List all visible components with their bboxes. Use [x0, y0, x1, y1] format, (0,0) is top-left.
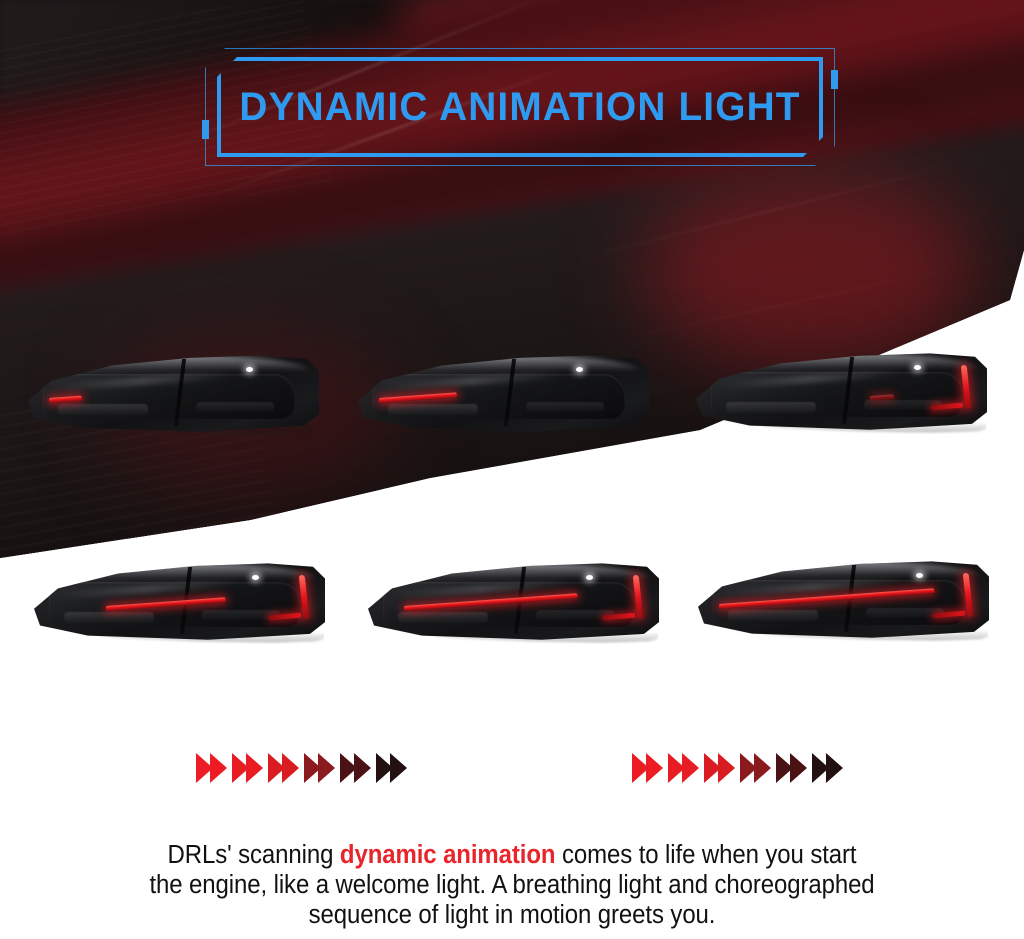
chevron-group-right	[632, 753, 845, 783]
chevron-icon	[196, 753, 229, 783]
title-banner: DYNAMIC ANIMATION LIGHT	[205, 48, 835, 166]
backdrop-red-glow	[640, 170, 980, 370]
drl-scan-segment	[404, 593, 578, 611]
tail-light-frame-1	[22, 352, 322, 452]
chevron-icon	[704, 753, 737, 783]
drl-light-bar	[692, 558, 992, 642]
tail-light-frame-2	[352, 352, 652, 452]
caption-line-2: the engine, like a welcome light. A brea…	[31, 870, 994, 900]
caption-block: DRLs' scanning dynamic animation comes t…	[31, 840, 994, 930]
chevron-icon	[376, 753, 409, 783]
chevron-icon	[740, 753, 773, 783]
caption-line1-post: comes to life when you start	[555, 841, 856, 869]
tail-light-frame-6	[692, 558, 992, 658]
tail-light-frame-4	[28, 560, 328, 660]
chevron-icon	[268, 753, 301, 783]
chevron-icon	[812, 753, 845, 783]
drl-scan-segment	[106, 597, 226, 611]
caption-line1-pre: DRLs' scanning	[168, 841, 340, 869]
drl-foot	[931, 402, 963, 410]
drl-light-bar	[352, 352, 652, 436]
chevron-icon	[304, 753, 337, 783]
drl-foot	[269, 612, 301, 620]
chevron-icon	[776, 753, 809, 783]
chevron-icon	[668, 753, 701, 783]
drl-scan-segment	[379, 392, 457, 403]
banner-title-text: DYNAMIC ANIMATION LIGHT	[214, 48, 825, 166]
chevron-icon	[632, 753, 665, 783]
chevron-icon	[232, 753, 265, 783]
chevron-icon	[340, 753, 373, 783]
caption-line-3: sequence of light in motion greets you.	[31, 900, 994, 930]
drl-foot	[933, 610, 965, 618]
chevron-group-left	[196, 753, 409, 783]
drl-hook	[633, 575, 644, 619]
tail-light-frame-5	[362, 560, 662, 660]
banner-tab-left	[202, 120, 209, 139]
drl-scan-segment	[49, 396, 82, 403]
drl-light-bar	[28, 560, 328, 644]
drl-light-bar	[362, 560, 662, 644]
caption-line-1: DRLs' scanning dynamic animation comes t…	[31, 840, 994, 870]
drl-hook	[299, 575, 310, 619]
drl-light-bar	[22, 352, 322, 436]
caption-highlight: dynamic animation	[340, 841, 556, 869]
drl-hook	[963, 573, 974, 617]
product-poster: DYNAMIC ANIMATION LIGHT	[0, 0, 1024, 939]
drl-hook	[961, 365, 972, 409]
drl-foot	[603, 612, 635, 620]
drl-light-bar	[690, 350, 990, 434]
banner-tab-right	[831, 70, 838, 89]
drl-scan-segment	[719, 588, 935, 609]
drl-scan-segment	[870, 394, 894, 401]
tail-light-frame-3	[690, 350, 990, 450]
